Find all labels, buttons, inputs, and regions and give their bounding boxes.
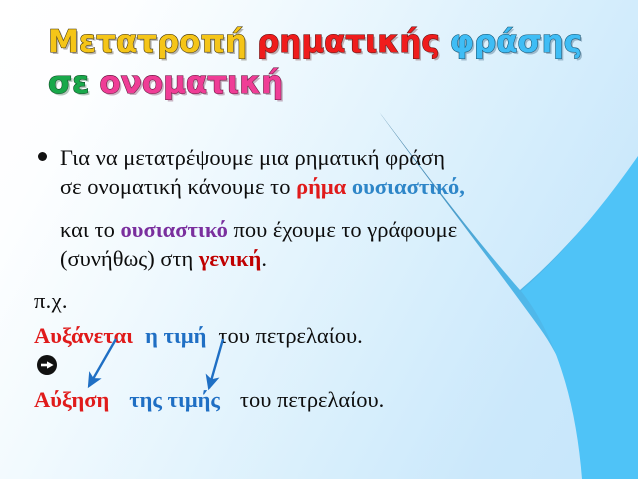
paragraph-2-line-2-prefix: (συνήθως) στη bbox=[60, 246, 199, 271]
example-block: π.χ. Αυξάνεταιη τιμήτου πετρελαίου. Αύξη… bbox=[34, 286, 609, 414]
slide-title: Μετατροπήρηματικήςφράσης σεονοματική bbox=[48, 22, 608, 104]
bullet-dot-icon bbox=[38, 152, 47, 161]
title-word-frasis: φράσης bbox=[450, 22, 582, 63]
nominal-genitive: της τιμής bbox=[129, 387, 220, 412]
transform-arrow-row bbox=[34, 354, 609, 380]
slide-body: Για να μετατρέψουμε μια ρηματική φράση σ… bbox=[34, 143, 609, 273]
circled-right-arrow-icon bbox=[36, 354, 58, 376]
example-verbal-phrase: Αυξάνεταιη τιμήτου πετρελαίου. bbox=[34, 321, 609, 350]
title-word-metatropi: Μετατροπή bbox=[48, 22, 247, 63]
verbal-complement: του πετρελαίου. bbox=[218, 323, 362, 348]
emphasis-ousiastiko-blue: ουσιαστικό, bbox=[352, 174, 465, 199]
presentation-slide: Μετατροπήρηματικήςφράσης σεονοματική Για… bbox=[0, 0, 638, 479]
emphasis-rima: ρήμα bbox=[296, 174, 346, 199]
paragraph-2-period: . bbox=[261, 246, 267, 271]
emphasis-ousiastiko-purple: ουσιαστικό bbox=[121, 217, 228, 242]
title-word-se: σε bbox=[48, 63, 89, 104]
title-word-rimatikis: ρηματικής bbox=[257, 22, 440, 63]
verbal-subject: η τιμή bbox=[145, 323, 206, 348]
title-line-1: Μετατροπήρηματικήςφράσης bbox=[48, 22, 608, 63]
verbal-verb: Αυξάνεται bbox=[34, 323, 133, 348]
nominal-noun: Αύξηση bbox=[34, 387, 109, 412]
body-paragraph-2-cont: (συνήθως) στη γενική. bbox=[34, 244, 609, 273]
emphasis-geniki: γενική bbox=[199, 246, 261, 271]
title-word-onomatiki: ονοματική bbox=[99, 63, 283, 104]
body-paragraph-2: και το ουσιαστικό που έχουμε το γράφουμε bbox=[34, 215, 609, 244]
paragraph-1-line-2-text: σε ονοματική κάνουμε το bbox=[60, 174, 296, 199]
body-paragraph-1: Για να μετατρέψουμε μια ρηματική φράση bbox=[34, 143, 609, 172]
nominal-complement: του πετρελαίου. bbox=[240, 387, 384, 412]
paragraph-2-suffix: που έχουμε το γράφουμε bbox=[228, 217, 457, 242]
title-line-2: σεονοματική bbox=[48, 63, 608, 104]
example-label: π.χ. bbox=[34, 286, 609, 315]
paragraph-1-line-1: Για να μετατρέψουμε μια ρηματική φράση bbox=[60, 145, 445, 170]
body-paragraph-1-cont: σε ονοματική κάνουμε το ρήμα ουσιαστικό, bbox=[34, 172, 609, 201]
example-nominal-phrase: Αύξησητης τιμήςτου πετρελαίου. bbox=[34, 385, 609, 414]
paragraph-2-prefix: και το bbox=[60, 217, 121, 242]
